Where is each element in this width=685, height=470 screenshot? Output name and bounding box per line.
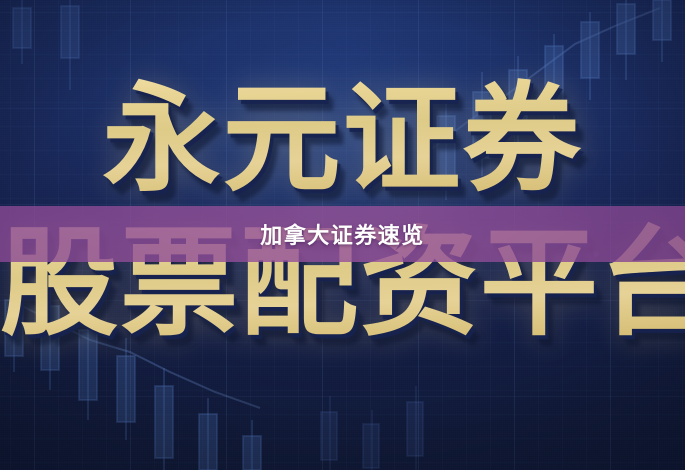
candle-group-bottom-right [321, 386, 423, 470]
candle-group-right [437, 0, 671, 200]
overlay-band-text: 加拿大证券速览 [260, 218, 425, 250]
candle-group-left-upper [13, 0, 79, 90]
overlay-band: 加拿大证券速览 [0, 206, 685, 262]
trend-line [430, 8, 660, 150]
headline-line-1: 永元证券 [0, 68, 685, 212]
candle-group-left [5, 282, 261, 470]
stock-platform-banner: 永元证券 股票配资平台 加拿大证券速览 [0, 0, 685, 470]
trend-line-secondary [10, 300, 260, 408]
